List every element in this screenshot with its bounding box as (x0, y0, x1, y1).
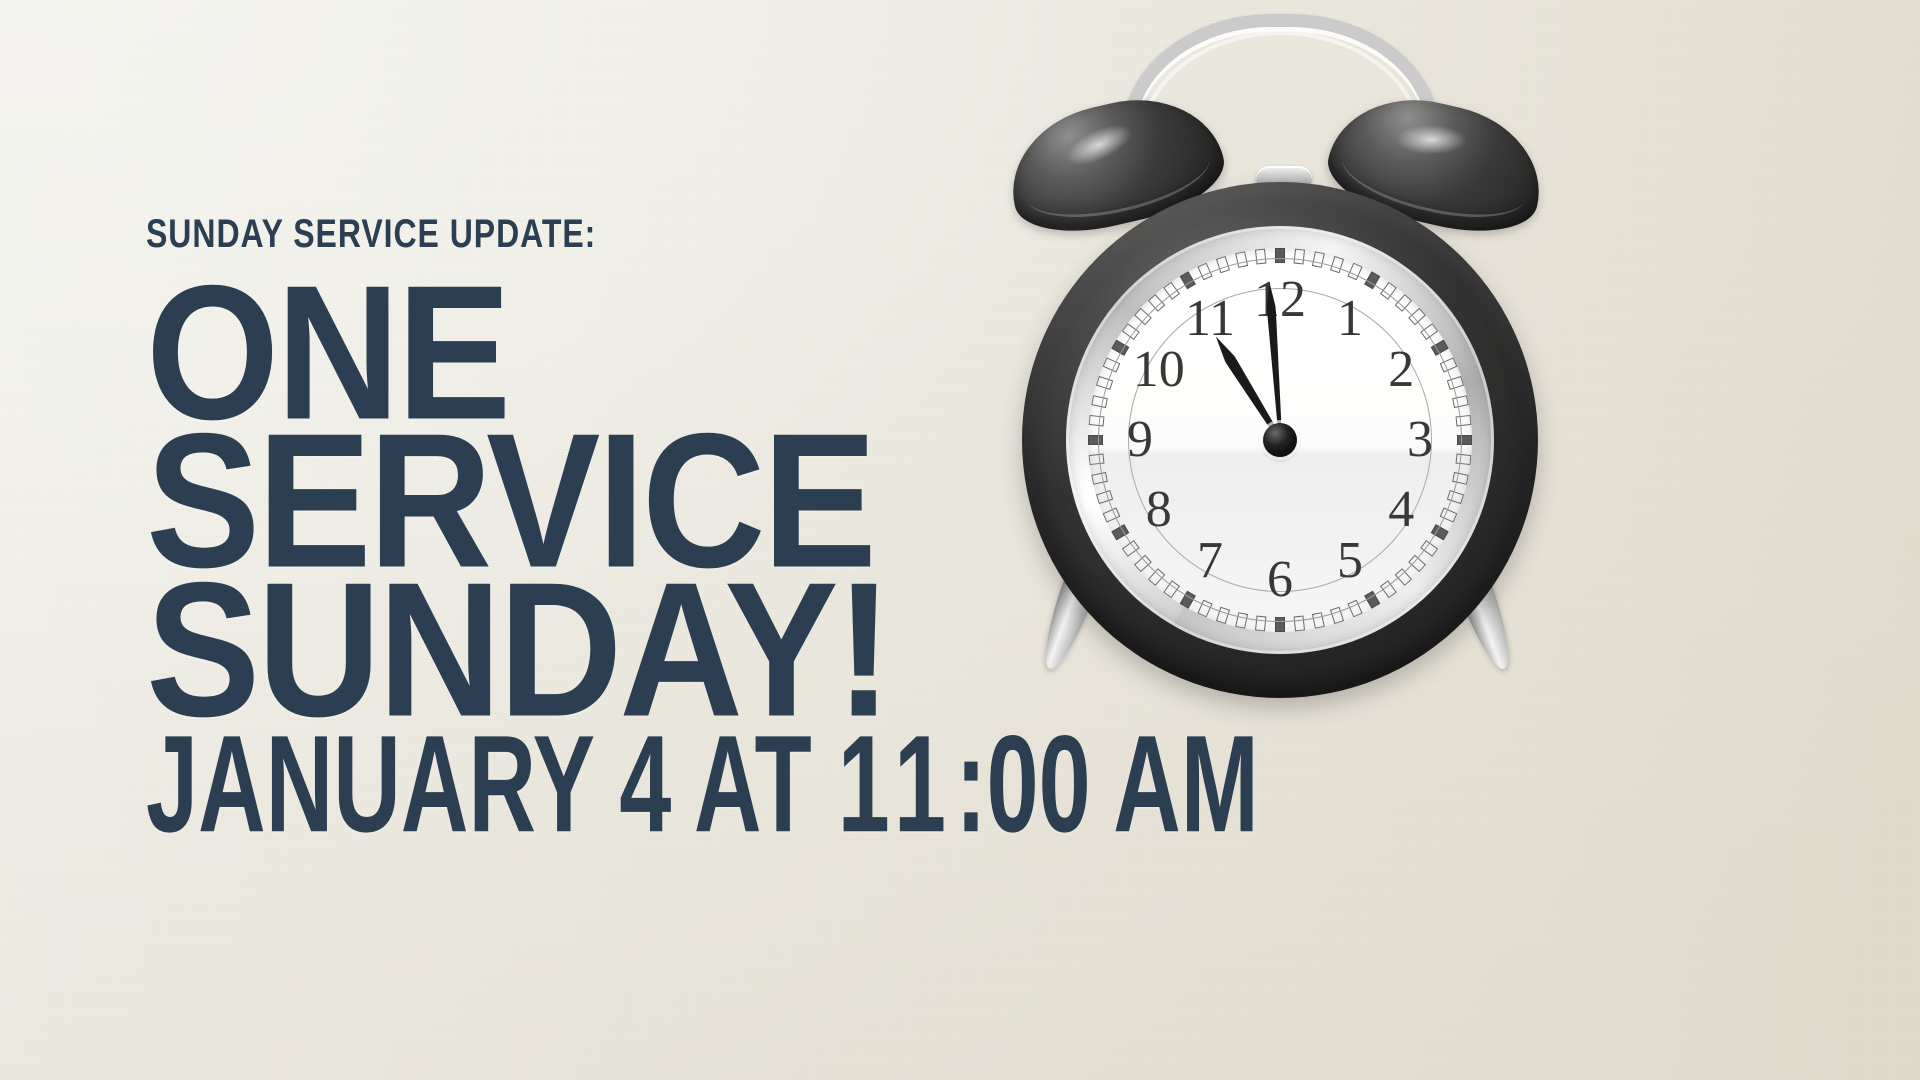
dial-numeral-4: 4 (1372, 481, 1430, 539)
announcement-slide: SUNDAY SERVICE UPDATE: ONE SERVICE SUNDA… (0, 0, 1920, 1080)
date-time-hour: 11 (838, 706, 956, 861)
dial-numeral-9: 9 (1111, 411, 1169, 469)
clock-chrome-ring: 121234567891011 (1066, 226, 1494, 654)
dial-numeral-8: 8 (1130, 481, 1188, 539)
date-time-suffix: :00 AM (955, 706, 1258, 861)
date-time-line: JANUARY 4 AT 11:00 AM (146, 721, 866, 848)
date-time-prefix: JANUARY 4 AT (146, 706, 838, 861)
dial-numeral-10: 10 (1130, 341, 1188, 399)
dial-numeral-1: 1 (1321, 290, 1379, 348)
dial-numeral-2: 2 (1372, 341, 1430, 399)
hand-center-cap (1263, 423, 1297, 457)
text-block: SUNDAY SERVICE UPDATE: ONE SERVICE SUNDA… (146, 214, 1146, 841)
dial-numeral-6: 6 (1251, 551, 1309, 609)
dial-numeral-12: 12 (1251, 271, 1309, 329)
dial-numeral-7: 7 (1181, 532, 1239, 590)
dial-numeral-11: 11 (1181, 290, 1239, 348)
alarm-clock-icon: 121234567891011 (1000, 0, 1560, 700)
clock-case: 121234567891011 (1022, 182, 1538, 698)
clock-dial: 121234567891011 (1088, 248, 1472, 632)
dial-numeral-5: 5 (1321, 532, 1379, 590)
dial-numeral-3: 3 (1391, 411, 1449, 469)
page-title: ONE SERVICE SUNDAY! (146, 276, 1146, 707)
